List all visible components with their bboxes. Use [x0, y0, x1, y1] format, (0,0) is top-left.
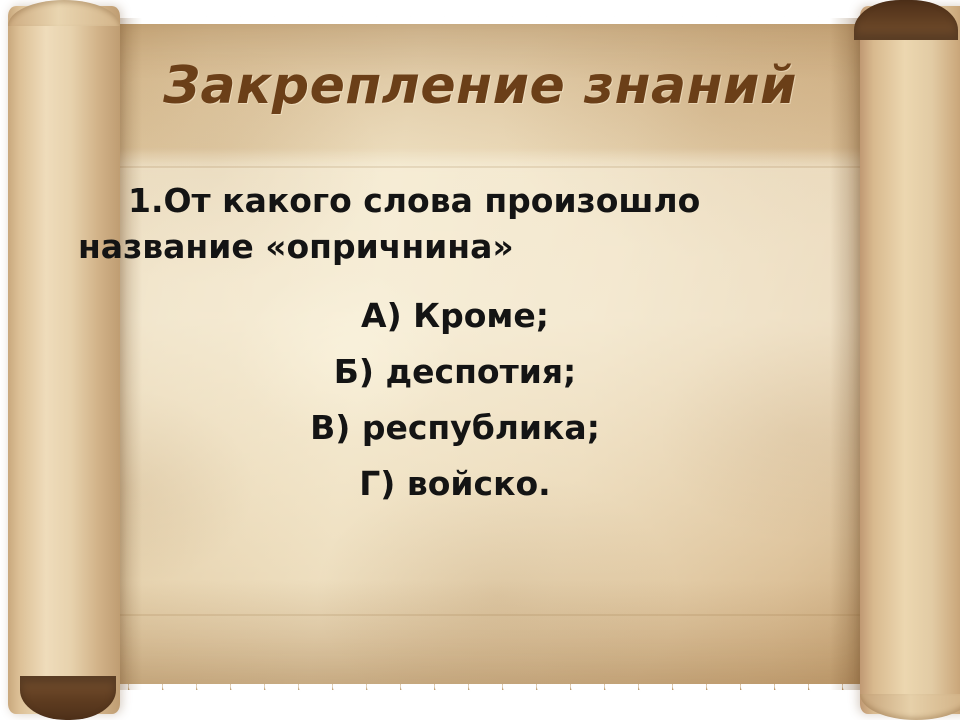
slide-title: Закрепление знаний	[60, 56, 900, 116]
answer-option-a[interactable]: А) Кроме;	[60, 288, 850, 344]
answer-option-v[interactable]: В) республика;	[60, 400, 850, 456]
question-text: 1.От какого слова произошло название «оп…	[78, 178, 778, 270]
scroll-slide: Закрепление знаний 1.От какого слова про…	[0, 0, 960, 720]
answer-option-g[interactable]: Г) войско.	[60, 456, 850, 512]
slide-content: Закрепление знаний 1.От какого слова про…	[60, 18, 900, 690]
scroll-roll-right-cap	[860, 694, 960, 720]
answer-options-list: А) Кроме; Б) деспотия; В) республика; Г)…	[60, 288, 850, 512]
answer-option-b[interactable]: Б) деспотия;	[60, 344, 850, 400]
